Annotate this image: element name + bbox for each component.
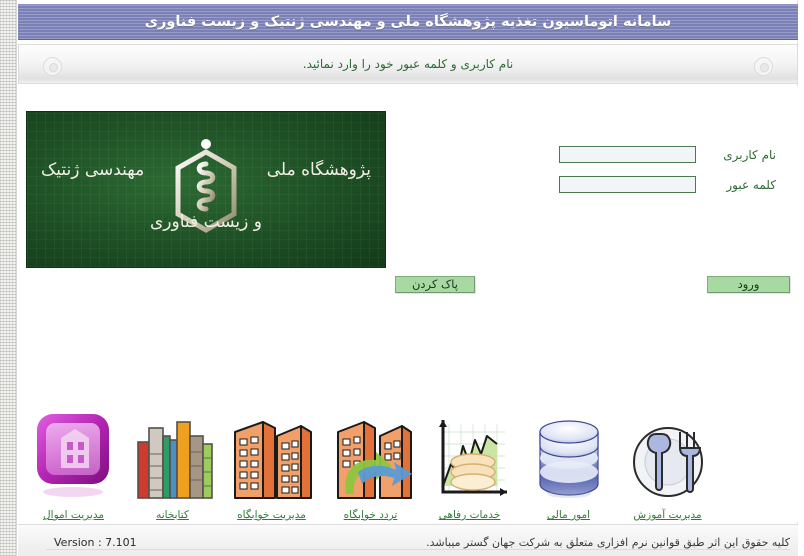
instruction-bar: نام کاربری و کلمه عبور خود را وارد نمائی… <box>18 44 798 84</box>
right-gutter <box>797 0 804 556</box>
login-page: سامانه اتوماسیون تغذیه پژوهشگاه ملی و مه… <box>0 0 804 556</box>
module-label: خدمات رفاهی <box>439 509 501 521</box>
module-label: مدیریت خوابگاه <box>237 509 306 521</box>
module-label: مدیریت اموال <box>43 509 104 521</box>
app-title-bar: سامانه اتوماسیون تغذیه پژوهشگاه ملی و مه… <box>18 4 798 40</box>
version-text: Version : 7.101 <box>54 536 137 549</box>
module-label: امور مالی <box>547 509 590 521</box>
module-link-finance[interactable]: امور مالی <box>519 396 618 521</box>
module-shortcut-strip: مدیریت اموال <box>18 391 798 521</box>
app-title: سامانه اتوماسیون تغذیه پژوهشگاه ملی و مه… <box>145 14 672 30</box>
library-books-icon <box>130 406 216 506</box>
module-link-property-management[interactable]: مدیریت اموال <box>24 396 123 521</box>
page-footer: کلیه حقوق این اثر طبق قوانین نرم افزاری … <box>18 524 798 556</box>
module-link-dormitory-management[interactable]: مدیریت خوابگاه <box>222 396 321 521</box>
module-link-library[interactable]: کتابخانه <box>123 396 222 521</box>
circle-collapse-icon-right[interactable] <box>754 57 773 76</box>
login-form: نام کاربری کلمه عبور <box>518 146 778 206</box>
login-button[interactable]: ورود <box>707 276 790 293</box>
module-label: تردد خوابگاه <box>344 509 398 521</box>
left-texture-gutter <box>0 0 17 556</box>
copyright-text: کلیه حقوق این اثر طبق قوانین نرم افزاری … <box>426 536 790 549</box>
logo-line-bottom: و زیست فناوری <box>27 212 385 232</box>
username-row: نام کاربری <box>518 146 778 163</box>
dormitory-traffic-icon <box>328 406 414 506</box>
username-label: نام کاربری <box>702 148 778 162</box>
property-management-icon <box>31 406 117 506</box>
welfare-chart-coins-icon <box>427 406 513 506</box>
copyright-text-value: کلیه حقوق این اثر طبق قوانین نرم افزاری … <box>426 536 790 549</box>
clear-button[interactable]: پاک کردن <box>395 276 475 293</box>
module-link-welfare-services[interactable]: خدمات رفاهی <box>420 396 519 521</box>
password-row: کلمه عبور <box>518 176 778 193</box>
institute-logo-banner: پژوهشگاه ملی مهندسی ژنتیک و زیست فناوری <box>26 111 386 268</box>
username-input[interactable] <box>559 146 696 163</box>
footer-divider <box>46 549 790 550</box>
module-link-catering[interactable]: مدیریت آموزش <box>618 396 717 521</box>
module-label: کتابخانه <box>156 509 189 521</box>
main-content: پژوهشگاه ملی مهندسی ژنتیک و زیست فناوری … <box>18 86 798 522</box>
module-label: مدیریت آموزش <box>633 509 701 521</box>
logo-line-right: پژوهشگاه ملی <box>267 160 371 180</box>
catering-plate-icon <box>625 406 711 506</box>
password-input[interactable] <box>559 176 696 193</box>
finance-database-icon <box>526 406 612 506</box>
password-label: کلمه عبور <box>702 178 778 192</box>
circle-collapse-icon-left[interactable] <box>43 57 62 76</box>
logo-line-left: مهندسی ژنتیک <box>41 160 144 180</box>
dormitory-buildings-icon <box>229 406 315 506</box>
instruction-text: نام کاربری و کلمه عبور خود را وارد نمائی… <box>303 57 513 71</box>
module-link-dormitory-traffic[interactable]: تردد خوابگاه <box>321 396 420 521</box>
